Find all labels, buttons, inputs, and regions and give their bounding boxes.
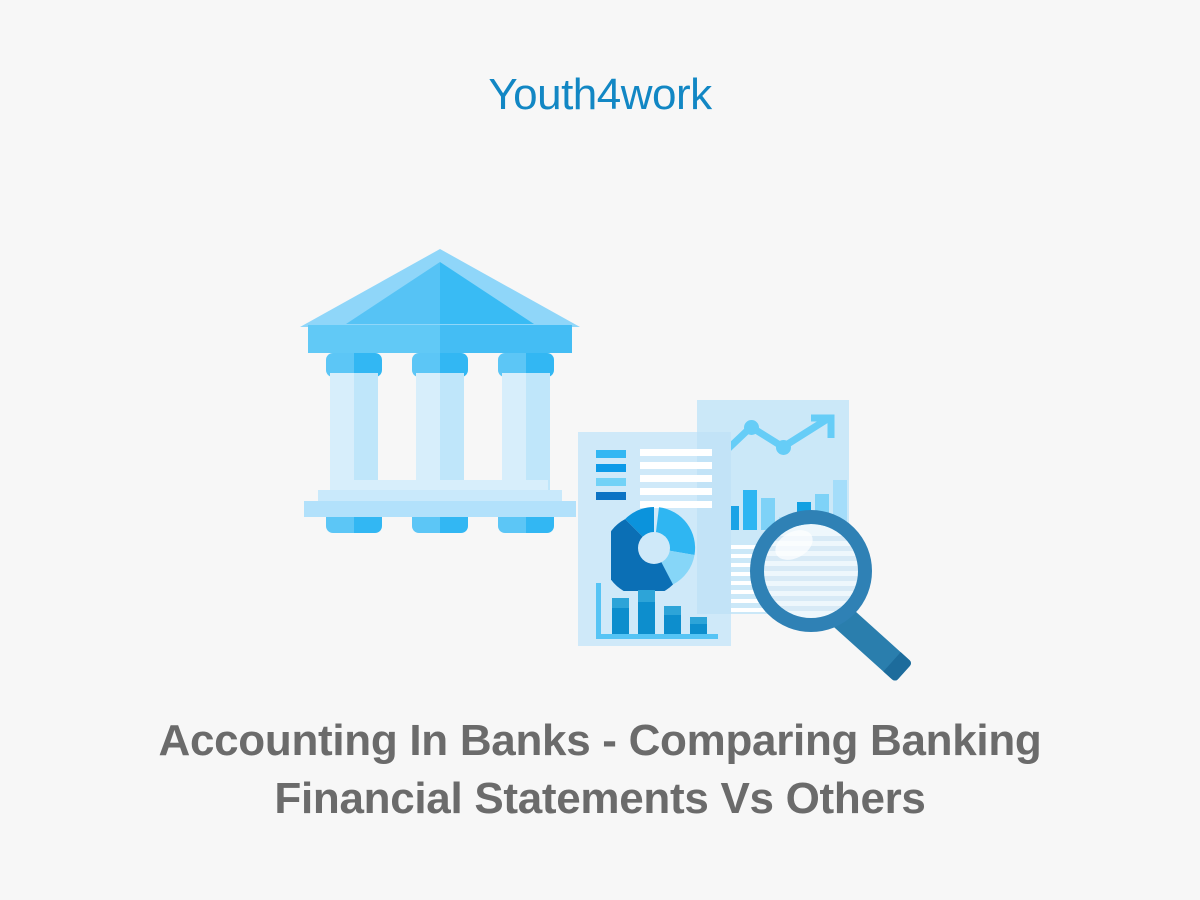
bank-step-middle bbox=[318, 490, 562, 501]
legend-swatch bbox=[596, 450, 626, 458]
legend-swatch bbox=[596, 478, 626, 486]
bar bbox=[612, 598, 629, 634]
bank-entablature-right bbox=[440, 325, 572, 353]
bank-step-bottom bbox=[304, 501, 576, 517]
banking-illustration bbox=[280, 225, 930, 685]
text-line bbox=[640, 462, 712, 469]
bar bbox=[664, 606, 681, 634]
text-line bbox=[640, 488, 712, 495]
donut-pie-chart bbox=[611, 505, 697, 591]
magnifying-glass-icon bbox=[750, 510, 930, 690]
poster-canvas: Youth4work bbox=[0, 0, 1200, 900]
bank-step-top bbox=[332, 480, 548, 490]
bank-pediment-inner-right bbox=[440, 262, 534, 324]
legend-swatch bbox=[596, 464, 626, 472]
chart-y-axis bbox=[596, 583, 601, 639]
chart-legend bbox=[596, 450, 626, 506]
line-chart-marker bbox=[776, 440, 791, 455]
bar bbox=[690, 617, 707, 634]
bank-entablature-left bbox=[308, 325, 440, 353]
text-line bbox=[640, 449, 712, 456]
page-title: Accounting In Banks - Comparing Banking … bbox=[60, 712, 1140, 828]
bar bbox=[638, 590, 655, 634]
chart-x-axis bbox=[596, 634, 718, 639]
front-doc-bar-chart bbox=[596, 583, 718, 639]
page-title-line-2: Financial Statements Vs Others bbox=[60, 770, 1140, 828]
line-chart-marker bbox=[744, 420, 759, 435]
page-title-line-1: Accounting In Banks - Comparing Banking bbox=[60, 712, 1140, 770]
donut-center-hole bbox=[638, 532, 670, 564]
brand-logo: Youth4work bbox=[0, 70, 1200, 120]
text-line bbox=[640, 475, 712, 482]
bank-pediment-inner-left bbox=[346, 262, 440, 324]
magnifier-ring bbox=[750, 510, 872, 632]
legend-swatch bbox=[596, 492, 626, 500]
bank-building-icon bbox=[300, 237, 580, 532]
